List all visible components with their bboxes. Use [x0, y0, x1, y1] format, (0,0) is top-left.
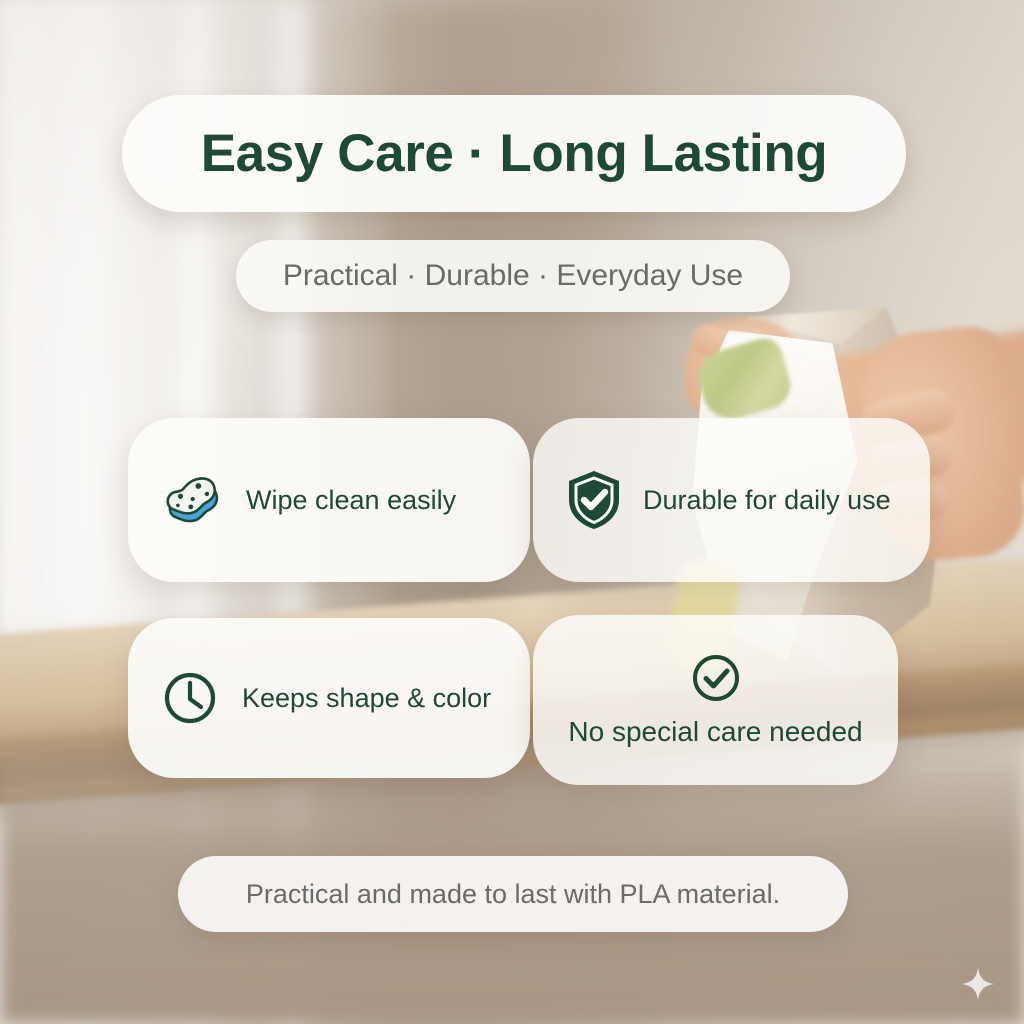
footer-pill: Practical and made to last with PLA mate…: [178, 856, 848, 932]
clock-icon: [162, 670, 218, 726]
page-subtitle: Practical · Durable · Everyday Use: [283, 259, 743, 293]
feature-label: Durable for daily use: [643, 485, 891, 516]
page-title: Easy Care · Long Lasting: [201, 123, 828, 184]
sponge-icon: [162, 474, 224, 526]
feature-label: No special care needed: [568, 716, 862, 748]
feature-label: Keeps shape & color: [242, 683, 491, 714]
feature-card-keeps-shape[interactable]: Keeps shape & color: [128, 618, 530, 778]
feature-card-wipe-clean[interactable]: Wipe clean easily: [128, 418, 530, 582]
footer-note: Practical and made to last with PLA mate…: [246, 879, 780, 910]
subtitle-pill: Practical · Durable · Everyday Use: [236, 240, 790, 312]
feature-card-no-special-care[interactable]: No special care needed: [533, 615, 898, 785]
infographic-canvas: Easy Care · Long Lasting Practical · Dur…: [0, 0, 1024, 1024]
title-pill: Easy Care · Long Lasting: [122, 95, 906, 212]
shield-check-icon: [565, 469, 623, 531]
feature-card-durable[interactable]: Durable for daily use: [533, 418, 930, 582]
circle-check-icon: [690, 652, 742, 704]
sparkle-icon: [960, 966, 996, 1002]
feature-label: Wipe clean easily: [246, 485, 456, 516]
overlay-layer: Easy Care · Long Lasting Practical · Dur…: [0, 0, 1024, 1024]
